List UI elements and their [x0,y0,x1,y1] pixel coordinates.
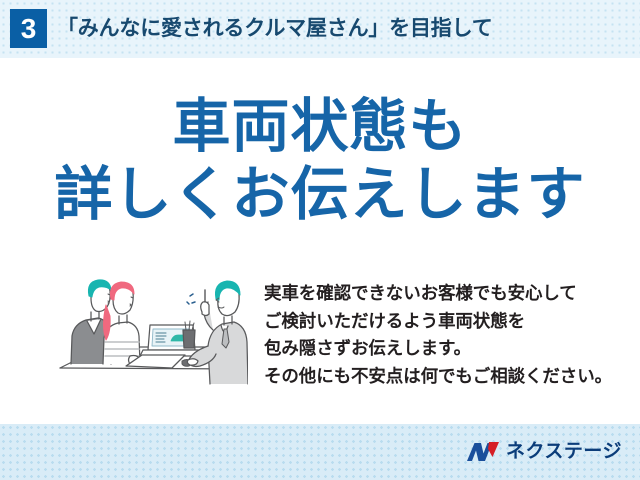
headline-line-1: 車両状態も [0,94,640,160]
body-line-3: 包み隠さずお伝えします。 [264,335,614,363]
nextage-logo-text: ネクステージ [506,442,622,461]
footer-bar: ネクステージ [0,424,640,480]
headline-line-2: 詳しくお伝えします [0,160,640,230]
body-line-2: ご検討いただけるよう車両状態を [264,308,614,336]
nextage-logo: ネクステージ [466,437,622,466]
page-title: 車両状態も 詳しくお伝えします [0,94,640,230]
emphasis-marks [187,294,195,304]
header-banner: 3 「みんなに愛されるクルマ屋さん」を目指して [0,0,640,58]
content-row: 実車を確認できないお客様でも安心して ご検討いただけるよう車両状態を 包み隠さず… [0,272,640,402]
header-title: 「みんなに愛されるクルマ屋さん」を目指して [57,12,493,46]
promo-slide: 3 「みんなに愛されるクルマ屋さん」を目指して 車両状態も 詳しくお伝えします [0,0,640,480]
body-line-4: その他にも不安点は何でもご相談ください。 [264,363,614,391]
consultation-illustration [58,272,248,390]
body-line-1: 実車を確認できないお客様でも安心して [264,280,614,308]
section-number-badge: 3 [10,9,47,48]
nextage-n-logo-icon [466,440,500,464]
body-text-block: 実車を確認できないお客様でも安心して ご検討いただけるよう車両状態を 包み隠さず… [264,280,614,390]
